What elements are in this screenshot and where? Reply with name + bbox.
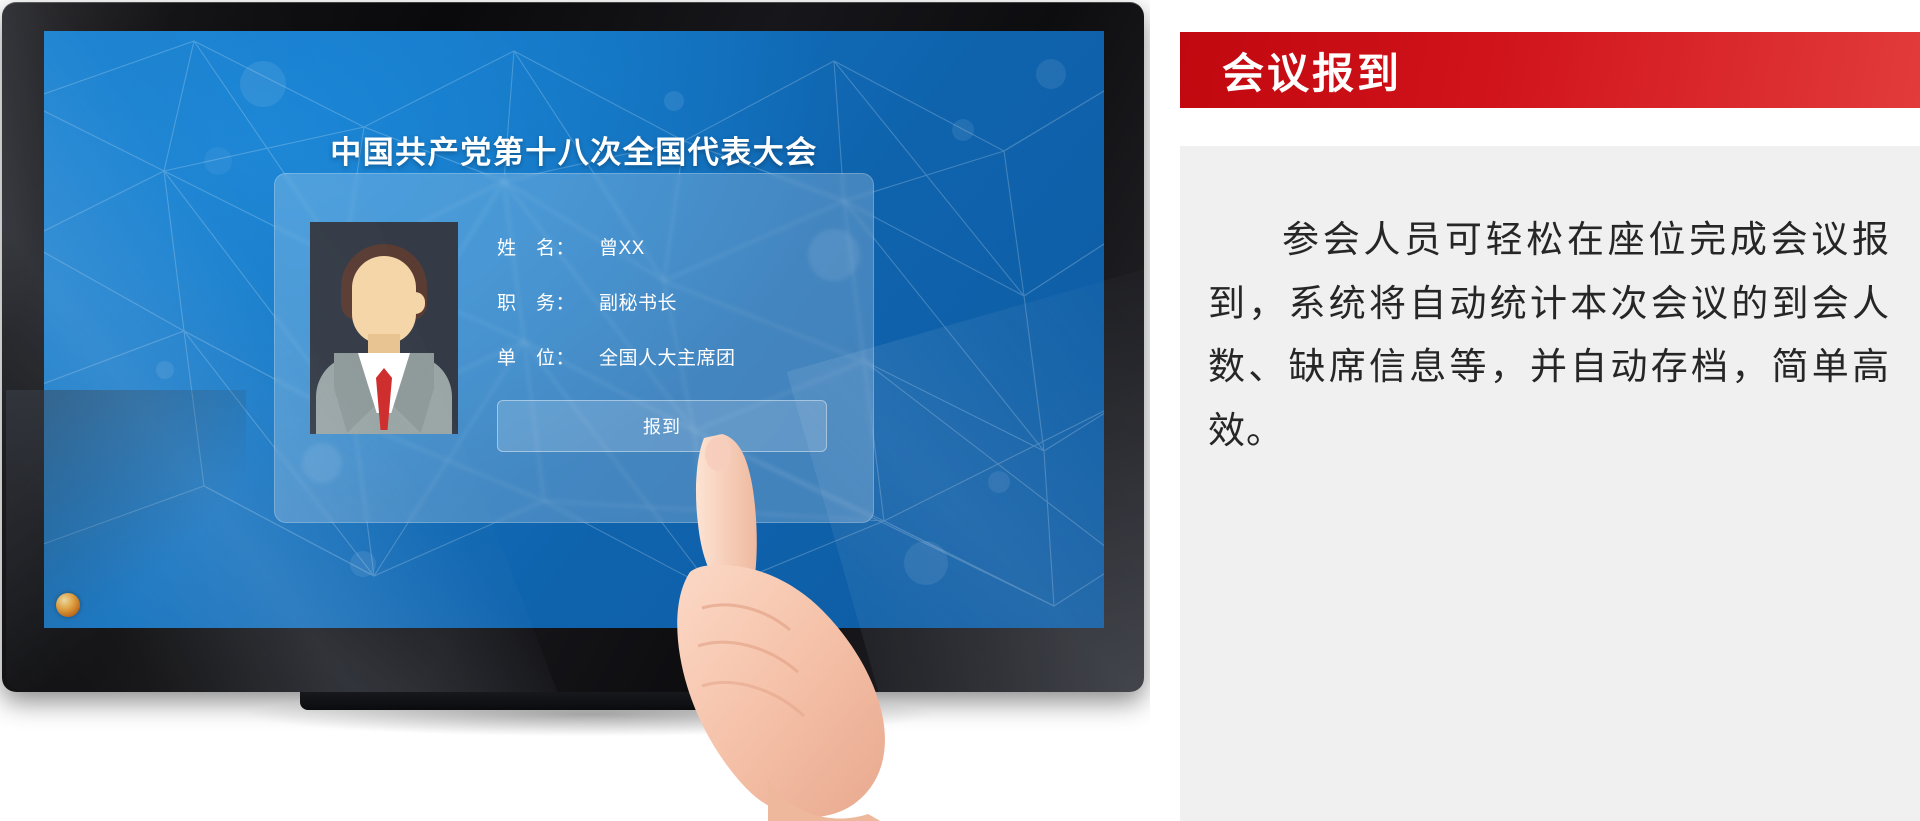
organization-label: 单 位： [497, 343, 599, 370]
name-label: 姓 名： [497, 233, 599, 260]
bokeh-circle [350, 551, 376, 577]
bokeh-circle [156, 361, 174, 379]
avatar [310, 222, 458, 434]
info-row-organization: 单 位： 全国人大主席团 [497, 342, 837, 370]
name-value: 曾XX [599, 233, 645, 260]
description-box: 参会人员可轻松在座位完成会议报到，系统将自动统计本次会议的到会人数、缺席信息等，… [1180, 146, 1920, 821]
description-text: 参会人员可轻松在座位完成会议报到，系统将自动统计本次会议的到会人数、缺席信息等，… [1208, 208, 1890, 463]
banner-title: 会议报到 [1222, 40, 1402, 101]
info-row-position: 职 务： 副秘书长 [497, 287, 837, 315]
pointing-hand [672, 432, 902, 821]
organization-value: 全国人大主席团 [599, 343, 736, 370]
monitor-photo: 中国共产党第十八次全国代表大会 [0, 0, 1150, 821]
position-label: 职 务： [497, 288, 599, 315]
attendee-info: 姓 名： 曾XX 职 务： 副秘书长 单 位： 全国人大主席团 [497, 232, 837, 397]
info-row-name: 姓 名： 曾XX [497, 232, 837, 260]
monitor-screen: 中国共产党第十八次全国代表大会 [44, 31, 1104, 628]
bokeh-circle [904, 541, 948, 585]
bokeh-circle [664, 91, 684, 111]
windows-start-orb-icon[interactable] [56, 593, 80, 617]
bokeh-circle [1036, 59, 1066, 89]
section-banner: 会议报到 [1180, 32, 1920, 108]
page-title: 中国共产党第十八次全国代表大会 [44, 127, 1104, 172]
bokeh-circle [988, 471, 1010, 493]
bokeh-circle [240, 61, 286, 107]
right-text-panel: 会议报到 参会人员可轻松在座位完成会议报到，系统将自动统计本次会议的到会人数、缺… [1150, 0, 1920, 821]
position-value: 副秘书长 [599, 288, 677, 315]
screenshot-root: 中国共产党第十八次全国代表大会 [0, 0, 1920, 821]
